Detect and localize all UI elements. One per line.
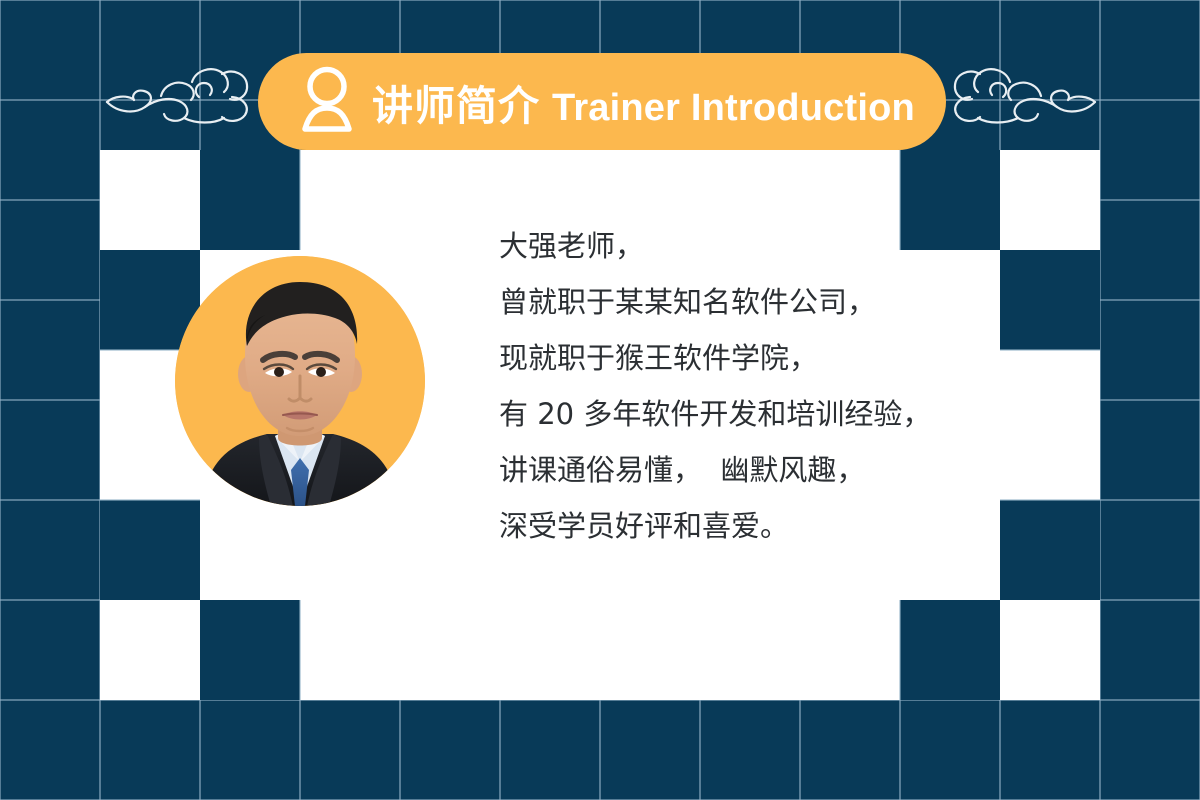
person-icon (296, 66, 358, 138)
page-title-cn: 讲师简介 (372, 72, 540, 132)
grid-stroke-bl-v (299, 600, 301, 700)
bio-line: 大强老师， (499, 218, 931, 274)
bio-line: 现就职于猴王软件学院， (499, 330, 931, 386)
corner-tile-tl-1 (200, 150, 300, 250)
grid-stroke-br-v (899, 600, 901, 700)
trainer-portrait (175, 256, 425, 506)
corner-notch-br-1 (1000, 600, 1100, 700)
avatar (175, 256, 425, 506)
grid-stroke-tl-v (299, 150, 301, 250)
cloud-icon-left (104, 52, 254, 147)
corner-notch-tr-1 (1000, 150, 1100, 250)
corner-tile-br-1 (900, 600, 1000, 700)
corner-notch-tl-1 (100, 150, 200, 250)
corner-notch-bl-1 (100, 600, 200, 700)
corner-tile-br-2 (1000, 500, 1100, 600)
corner-tile-tr-2 (1000, 250, 1100, 350)
corner-notch-bl-2 (200, 500, 300, 600)
grid-stroke-tr-h (1000, 349, 1100, 351)
bio-text-block: 大强老师， 曾就职于某某知名软件公司， 现就职于猴王软件学院， 有 20 多年软… (499, 218, 931, 554)
bio-line: 讲课通俗易懂， 幽默风趣， (499, 442, 931, 498)
cloud-icon-right (948, 52, 1098, 147)
bio-line: 有 20 多年软件开发和培训经验， (499, 386, 931, 442)
trainer-introduction-poster: 讲师简介 Trainer Introduction (0, 0, 1200, 800)
corner-tile-bl-2 (100, 500, 200, 600)
page-title-en: Trainer Introduction (552, 87, 915, 130)
title-banner: 讲师简介 Trainer Introduction (258, 53, 946, 150)
title-text-group: 讲师简介 Trainer Introduction (372, 72, 915, 132)
grid-stroke-bl-h (100, 499, 200, 501)
bio-line: 曾就职于某某知名软件公司， (499, 274, 931, 330)
bio-line: 深受学员好评和喜爱。 (499, 498, 931, 554)
corner-tile-bl-1 (200, 600, 300, 700)
grid-stroke-br-h (1000, 499, 1100, 501)
